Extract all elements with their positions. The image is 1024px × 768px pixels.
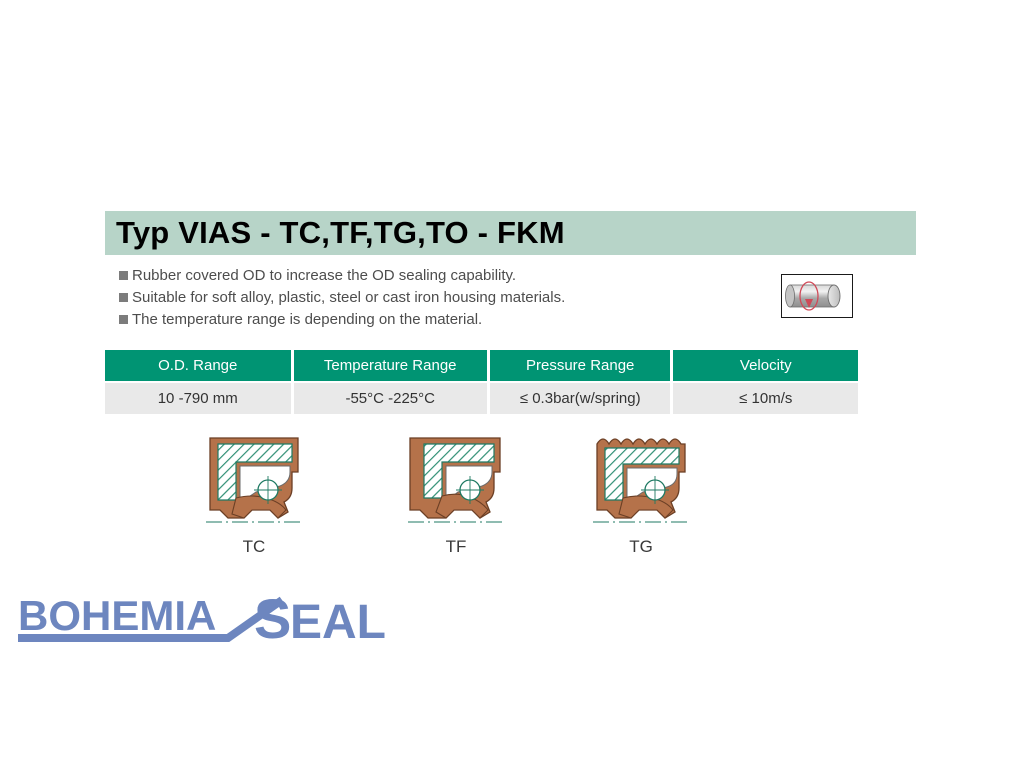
seal-label-tf: TF — [398, 537, 514, 557]
feature-list: Rubber covered OD to increase the OD sea… — [119, 266, 759, 332]
cell-pressure-range: ≤ 0.3bar(w/spring) — [490, 383, 671, 414]
spec-table: O.D. Range Temperature Range Pressure Ra… — [105, 350, 858, 414]
cell-velocity: ≤ 10m/s — [673, 383, 858, 414]
column-header-pressure-range: Pressure Range — [490, 350, 671, 381]
bullet-square-icon — [119, 293, 128, 302]
feature-text: Rubber covered OD to increase the OD sea… — [132, 266, 516, 285]
table-row: 10 -790 mm -55°C -225°C ≤ 0.3bar(w/sprin… — [105, 383, 858, 414]
title-band: Typ VIAS - TC,TF,TG,TO - FKM — [105, 211, 916, 255]
page-title: Typ VIAS - TC,TF,TG,TO - FKM — [105, 215, 565, 251]
column-header-temperature-range: Temperature Range — [294, 350, 487, 381]
bullet-square-icon — [119, 315, 128, 324]
bullet-square-icon — [119, 271, 128, 280]
column-header-velocity: Velocity — [673, 350, 858, 381]
logo-letter-s: S — [254, 587, 291, 648]
list-item: The temperature range is depending on th… — [119, 310, 759, 331]
feature-text: The temperature range is depending on th… — [132, 310, 482, 329]
column-header-od-range: O.D. Range — [105, 350, 291, 381]
list-item: Suitable for soft alloy, plastic, steel … — [119, 288, 759, 309]
seal-label-tg: TG — [583, 537, 699, 557]
seal-label-tc: TC — [196, 537, 312, 557]
company-logo: BOHEMIA S EAL — [14, 586, 394, 648]
table-header-row: O.D. Range Temperature Range Pressure Ra… — [105, 350, 858, 381]
feature-text: Suitable for soft alloy, plastic, steel … — [132, 288, 565, 307]
logo-word-eal: EAL — [290, 596, 386, 648]
cell-od-range: 10 -790 mm — [105, 383, 291, 414]
rotating-shaft-icon — [781, 274, 853, 318]
cell-temperature-range: -55°C -225°C — [294, 383, 487, 414]
list-item: Rubber covered OD to increase the OD sea… — [119, 266, 759, 287]
logo-word-bohemia: BOHEMIA — [18, 592, 216, 639]
